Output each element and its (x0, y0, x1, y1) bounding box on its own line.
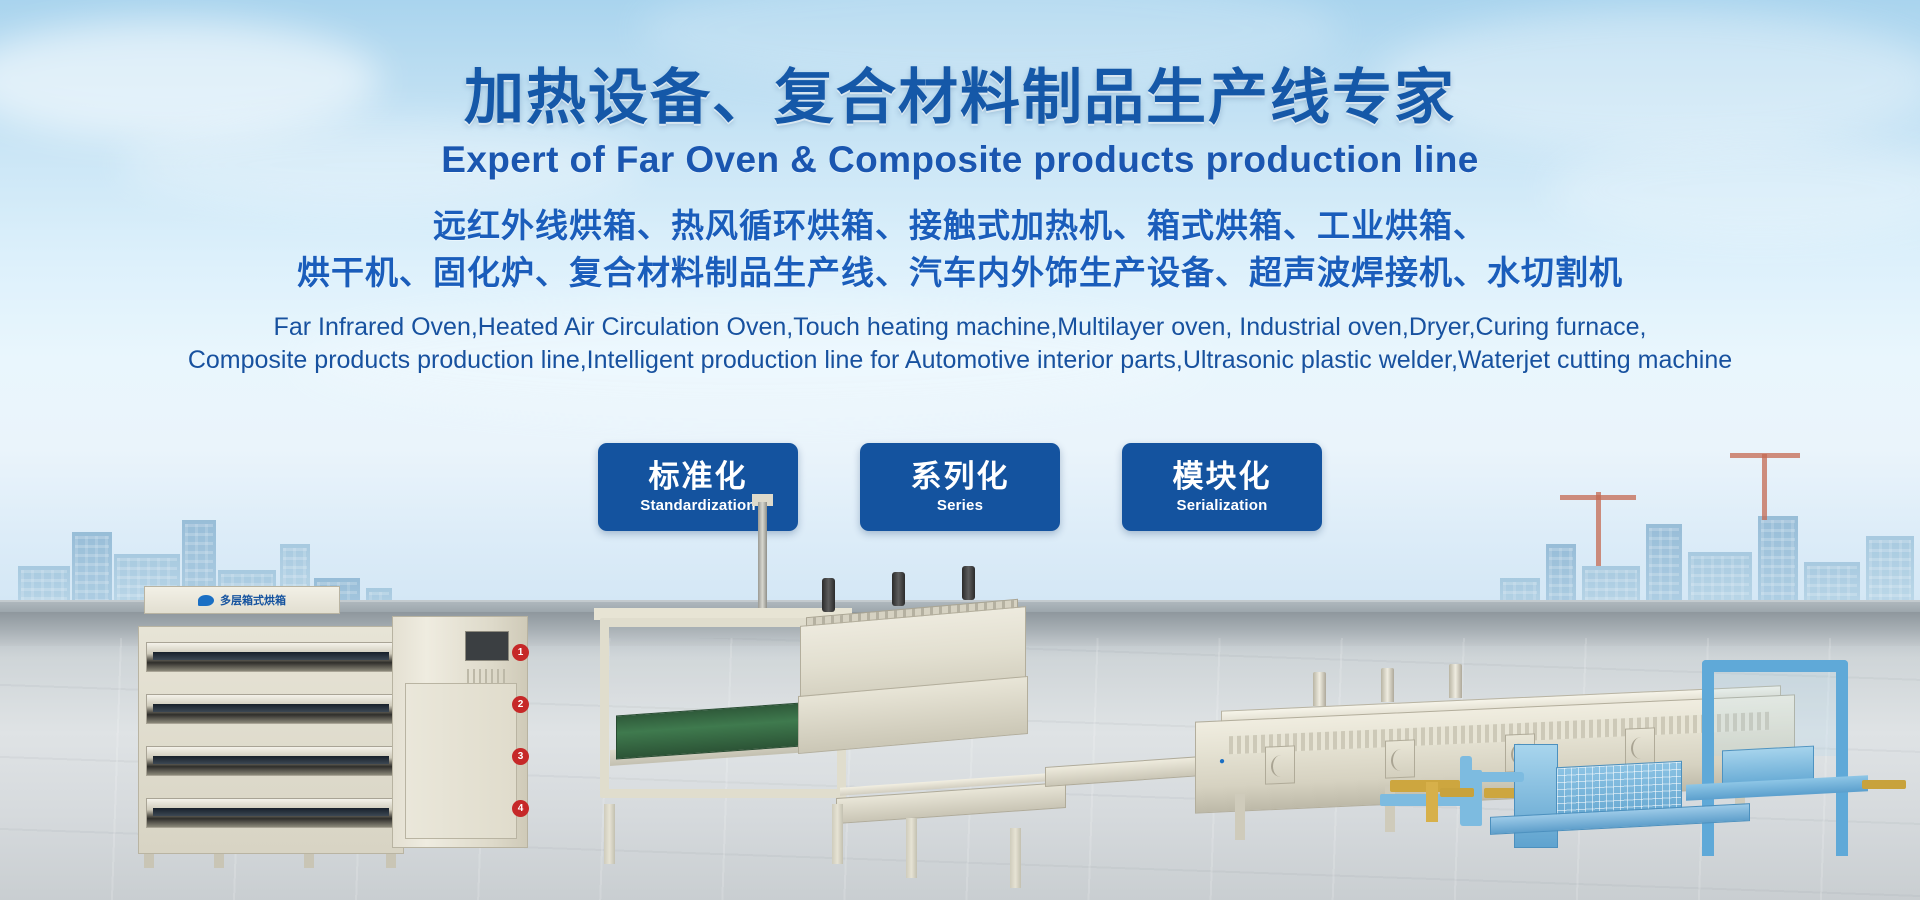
feature-badges: 标准化 Standardization 系列化 Series 模块化 Seria… (0, 443, 1920, 531)
gantry-frame (1702, 660, 1848, 756)
oven-control-cabinet (392, 616, 528, 848)
robot-tool (1440, 788, 1474, 797)
badge-series[interactable]: 系列化 Series (860, 443, 1060, 531)
badge-label-en: Series (937, 497, 983, 514)
exhaust-stack (1449, 664, 1462, 698)
badge-serialization[interactable]: 模块化 Serialization (1122, 443, 1322, 531)
oven-legs (140, 854, 402, 868)
hydraulic-cylinder (892, 572, 905, 606)
oven-tray (146, 746, 396, 776)
badge-standardization[interactable]: 标准化 Standardization (598, 443, 798, 531)
product-line-en-1: Far Infrared Oven,Heated Air Circulation… (0, 311, 1920, 345)
inspection-door[interactable] (1265, 745, 1295, 784)
machine-press-conveyor (600, 590, 1050, 870)
tray-number: 3 (512, 748, 529, 765)
tray-number: 4 (512, 800, 529, 817)
product-line-en-2: Composite products production line,Intel… (0, 344, 1920, 378)
oven-tray (146, 798, 396, 828)
tray-number: 2 (512, 696, 529, 713)
exhaust-stack (1381, 668, 1394, 702)
machine-robot-cell (1490, 660, 1920, 875)
page-title-en: Expert of Far Oven & Composite products … (0, 139, 1920, 181)
product-list-en: Far Infrared Oven,Heated Air Circulation… (0, 311, 1920, 379)
hydraulic-cylinder (822, 578, 835, 612)
robot-arm (1476, 772, 1524, 782)
tunnel-brand-logo-icon: ● (1219, 756, 1225, 767)
robot-base (1426, 782, 1438, 822)
hydraulic-cylinder (962, 566, 975, 600)
oven-nameplate-label: 多层箱式烘箱 (220, 592, 286, 608)
badge-label-cn: 系列化 (911, 460, 1010, 493)
oven-tray (146, 694, 396, 724)
tray-number-markers: 1 2 3 4 (512, 630, 534, 840)
hero-text-block: 加热设备、复合材料制品生产线专家 Expert of Far Oven & Co… (0, 0, 1920, 378)
badge-label-en: Serialization (1177, 497, 1268, 514)
exhaust-stack (1313, 672, 1326, 706)
badge-label-en: Standardization (640, 497, 756, 514)
oven-nameplate: 多层箱式烘箱 (144, 586, 340, 614)
machine-multilayer-oven: 多层箱式烘箱 1 2 3 4 (138, 616, 528, 856)
badge-label-cn: 标准化 (649, 460, 748, 493)
hero-banner: 加热设备、复合材料制品生产线专家 Expert of Far Oven & Co… (0, 0, 1920, 900)
tray-number: 1 (512, 644, 529, 661)
robot-tool (1862, 780, 1906, 789)
brand-logo-icon (198, 595, 214, 606)
product-line-cn-1: 远红外线烘箱、热风循环烘箱、接触式加热机、箱式烘箱、工业烘箱、 (0, 203, 1920, 250)
product-line-cn-2: 烘干机、固化炉、复合材料制品生产线、汽车内外饰生产设备、超声波焊接机、水切割机 (0, 250, 1920, 297)
oven-tray (146, 642, 396, 672)
page-title-cn: 加热设备、复合材料制品生产线专家 (0, 66, 1920, 131)
product-list-cn: 远红外线烘箱、热风循环烘箱、接触式加热机、箱式烘箱、工业烘箱、 烘干机、固化炉、… (0, 203, 1920, 297)
control-panel-icon[interactable] (465, 631, 509, 661)
cabinet-door[interactable] (405, 683, 517, 839)
vertical-mast (758, 502, 767, 612)
badge-label-cn: 模块化 (1173, 460, 1272, 493)
